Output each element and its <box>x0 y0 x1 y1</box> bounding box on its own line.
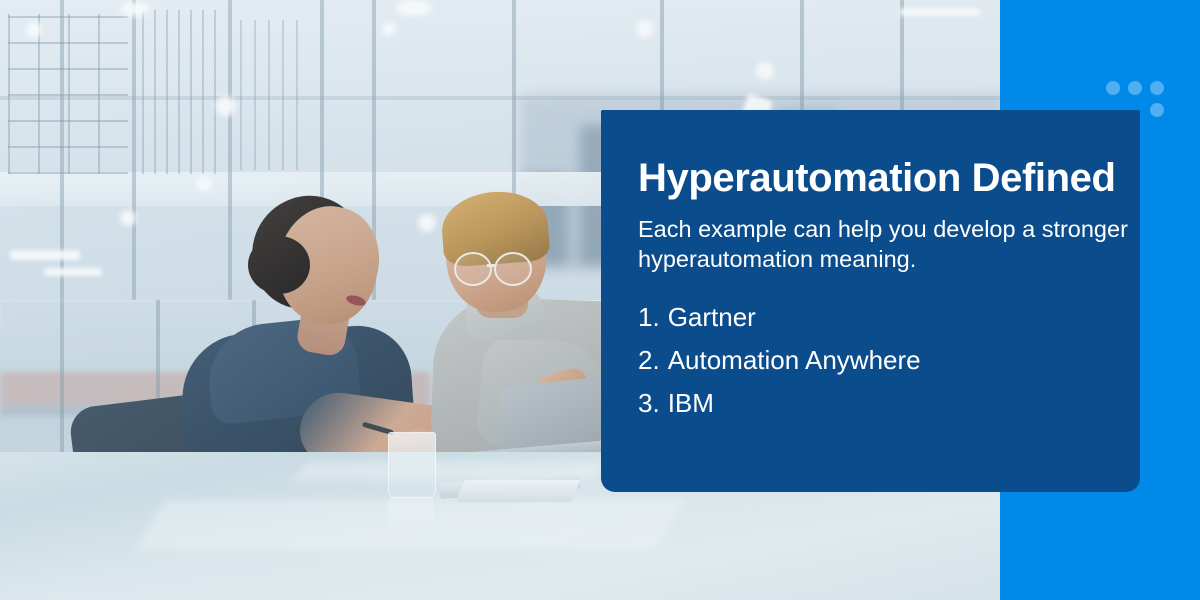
list-item-label: Automation Anywhere <box>668 339 921 382</box>
list-item: 1. Gartner <box>638 296 1128 339</box>
list-item: 3. IBM <box>638 382 1128 425</box>
card-content: Hyperautomation Defined Each example can… <box>638 158 1128 425</box>
list-item-number: 3. <box>638 382 660 425</box>
dot-icon <box>1150 81 1164 95</box>
card-title: Hyperautomation Defined <box>638 158 1128 198</box>
dot-icon <box>1150 103 1164 117</box>
list-item-label: IBM <box>668 382 714 425</box>
list-item-number: 2. <box>638 339 660 382</box>
content-card: Hyperautomation Defined Each example can… <box>601 110 1140 492</box>
dot-icon <box>1128 81 1142 95</box>
dot-icon <box>1106 81 1120 95</box>
definition-source-list: 1. Gartner 2. Automation Anywhere 3. IBM <box>638 296 1128 425</box>
list-item-number: 1. <box>638 296 660 339</box>
list-item-label: Gartner <box>668 296 756 339</box>
list-item: 2. Automation Anywhere <box>638 339 1128 382</box>
banner-stage: Hyperautomation Defined Each example can… <box>0 0 1200 600</box>
card-subtitle: Each example can help you develop a stro… <box>638 214 1128 274</box>
